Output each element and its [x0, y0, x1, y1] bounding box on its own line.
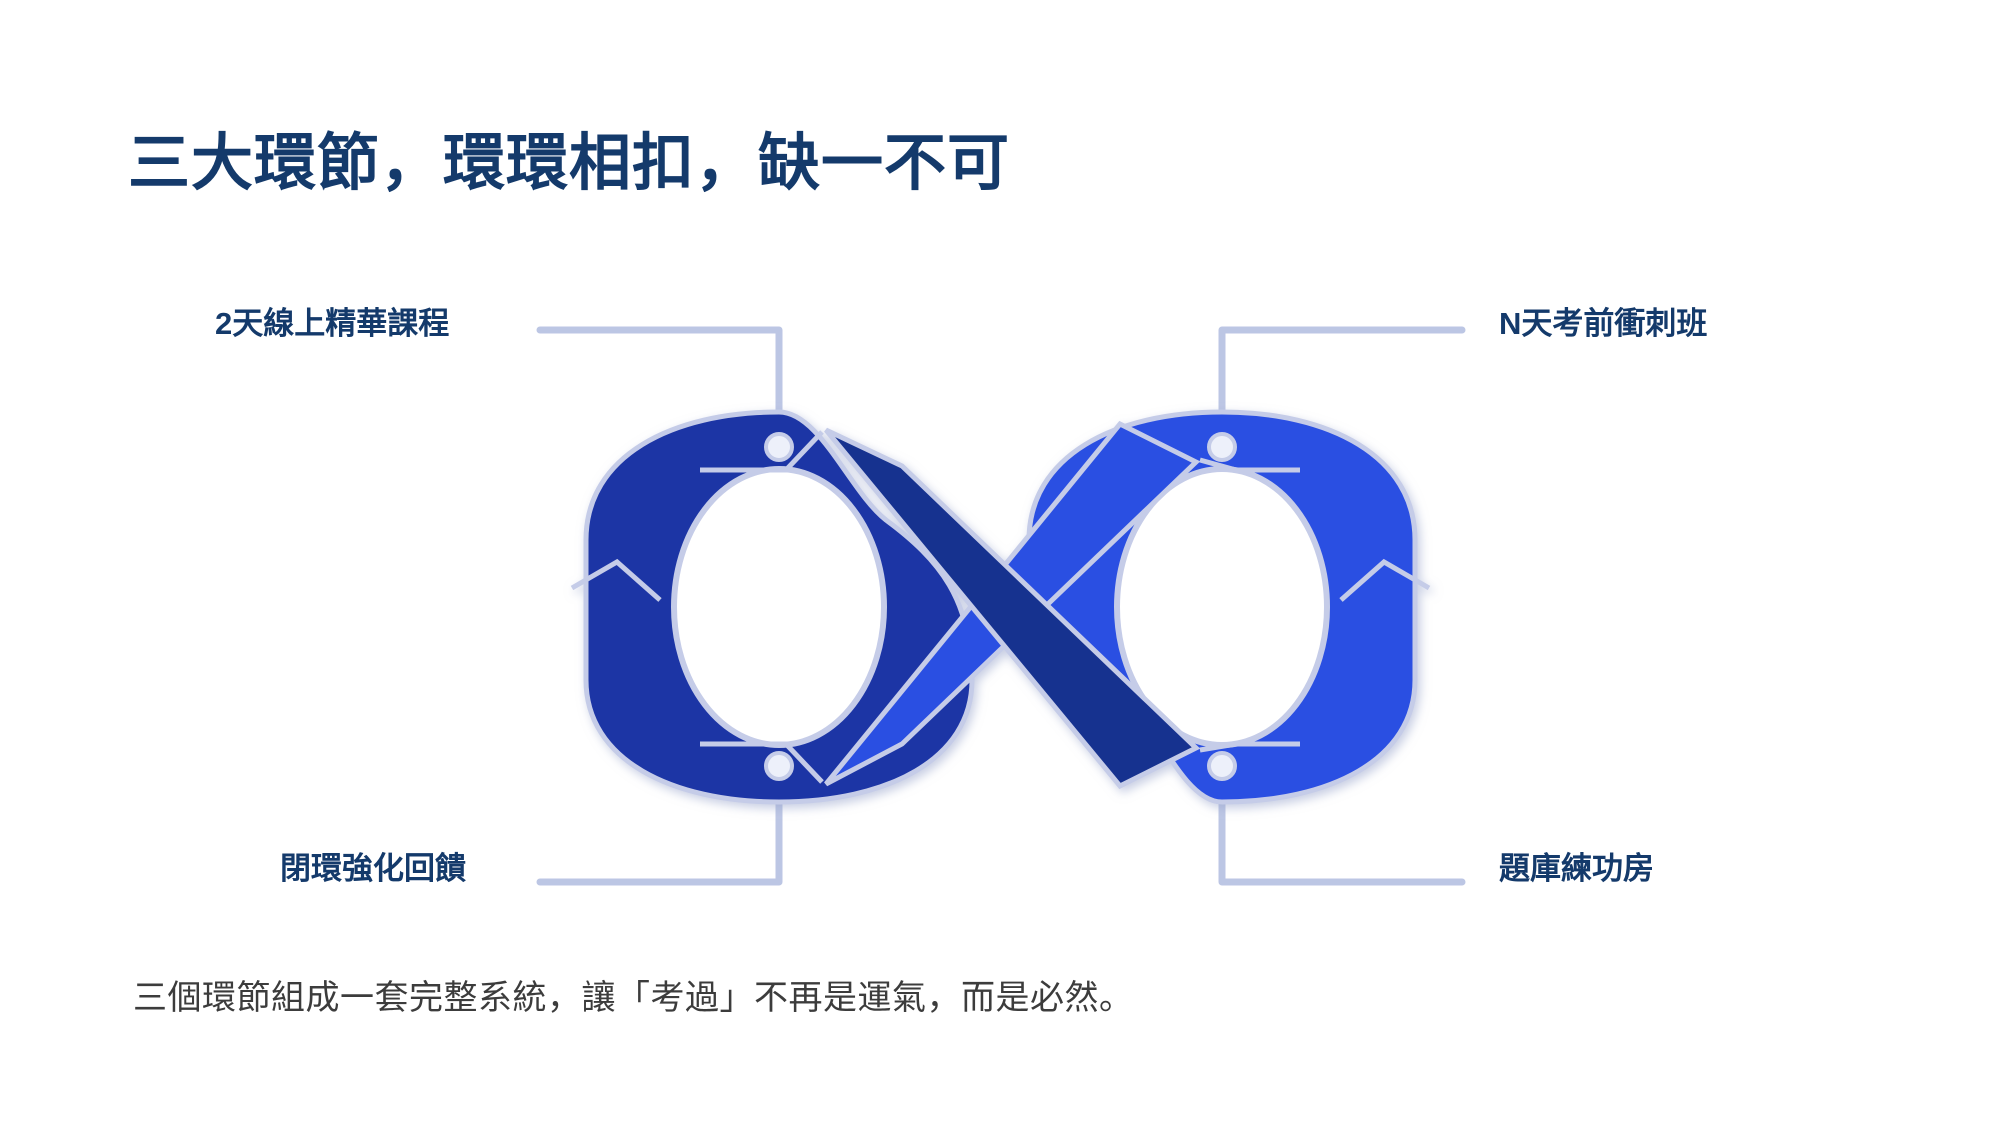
node-bottom-right	[1209, 753, 1235, 779]
node-top-right	[1209, 434, 1235, 460]
infinity-ribbon	[572, 412, 1429, 802]
infinity-loop-diagram	[0, 0, 2000, 1125]
left-loop-hole	[674, 469, 884, 745]
node-bottom-left	[766, 753, 792, 779]
node-label-bottom-right: 題庫練功房	[1499, 853, 1654, 884]
node-label-top-left: 2天線上精華課程	[215, 308, 449, 339]
node-label-bottom-left: 閉環強化回饋	[280, 853, 466, 884]
slide-canvas: 三大環節，環環相扣，缺一不可	[0, 0, 2000, 1125]
caption-text: 三個環節組成一套完整系統，讓「考過」不再是運氣，而是必然。	[133, 970, 1134, 1019]
node-top-left	[766, 434, 792, 460]
node-label-top-right: N天考前衝刺班	[1499, 308, 1707, 339]
